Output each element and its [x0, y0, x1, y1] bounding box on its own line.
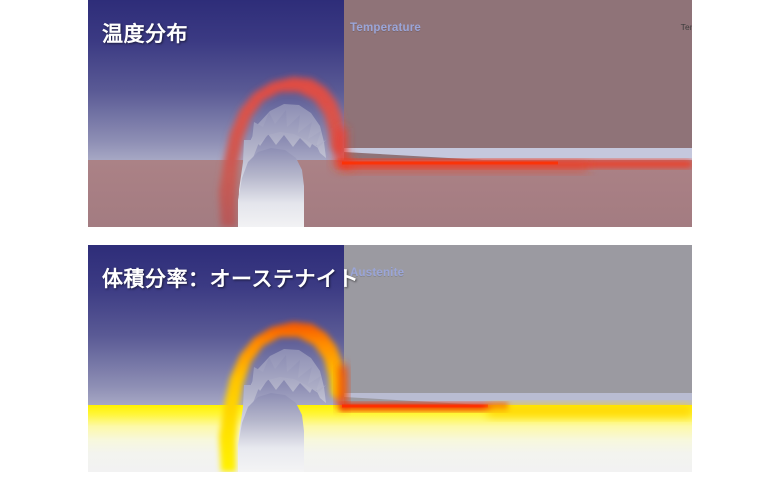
dataset-label-temperature: Temperature — [350, 22, 421, 34]
panel-caption-temperature: 温度分布 — [102, 18, 188, 48]
colorbar-max-label-temperature: 1300 — [684, 32, 692, 42]
colorbar-max-label-austenite: 1 — [684, 276, 692, 286]
panel-temperature: Temperature Temperature (C) 1300 20.0 温度… — [88, 0, 692, 227]
colorbar-title-temperature: Temperature (C) — [604, 22, 692, 32]
panel-caption-austenite: 体積分率：オーステナイト — [102, 263, 359, 293]
colorbar-min-label-austenite: 0.0 — [684, 404, 692, 414]
substrate-region — [88, 405, 692, 472]
figure-root: Temperature Temperature (C) 1300 20.0 温度… — [0, 0, 777, 480]
colorbar-min-label-temperature: 20.0 — [684, 172, 692, 182]
substrate-region — [88, 160, 692, 227]
panel-austenite: Austenite 1 0.0 体積分率：オーステナイト — [88, 245, 692, 472]
